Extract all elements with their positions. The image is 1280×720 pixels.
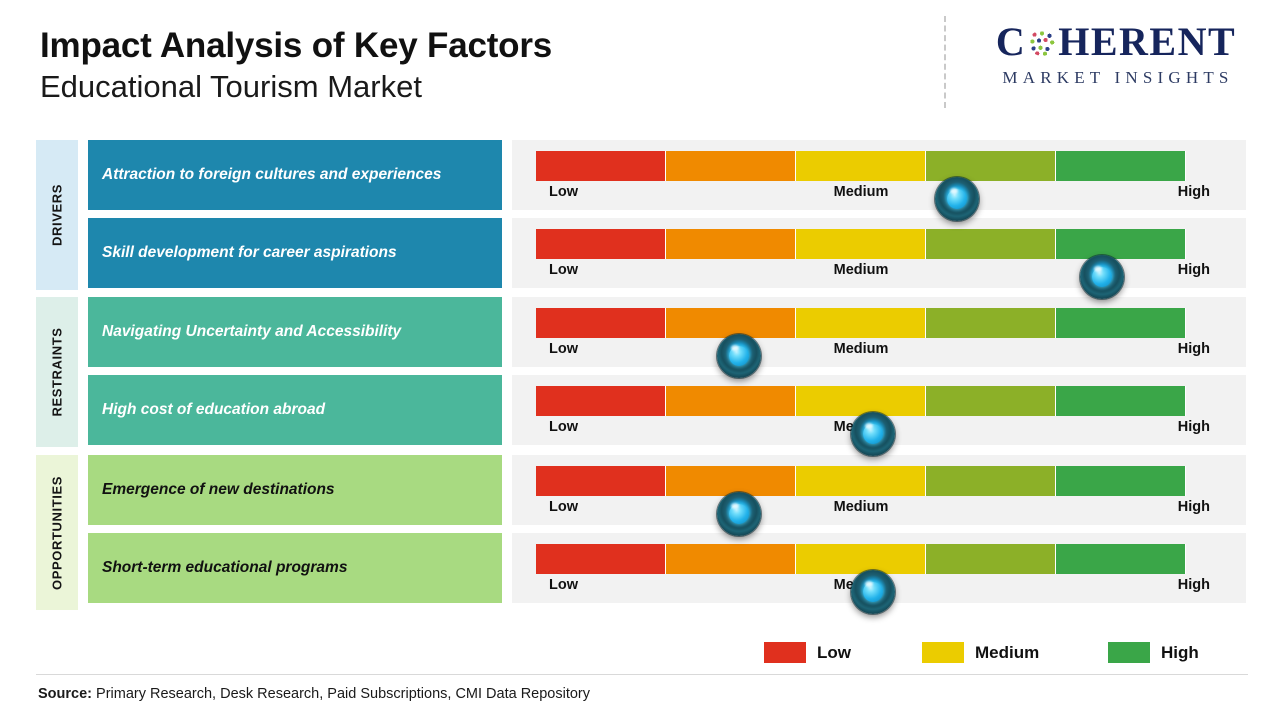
gauge-bar [536,386,1186,416]
scale-label-high: High [1178,499,1210,515]
logo-divider [944,16,946,108]
footer-divider [36,674,1248,675]
gauge-segment-high [1056,229,1186,259]
gauge-segment-medium [796,386,926,416]
gauge-bar [536,308,1186,338]
gauge-scale: Low Medium High [536,499,1186,523]
gauge-segment-high [1056,151,1186,181]
gauge-segment-high [1056,386,1186,416]
category-group-drivers: DRIVERS Attraction to foreign cultures a… [36,140,1246,290]
gauge-segment-low-medium [666,151,796,181]
impact-marker[interactable] [717,334,761,378]
gauge-segment-medium [796,544,926,574]
gauge-segment-high [1056,308,1186,338]
scale-label-high: High [1178,419,1210,435]
legend-item-low: Low [764,642,851,663]
category-label-drivers: DRIVERS [36,140,78,290]
gauge-segment-medium-high [926,386,1056,416]
factor-label: Navigating Uncertainty and Accessibility [88,297,502,367]
rows-opportunities: Emergence of new destinations Low Medium [88,455,1246,611]
factor-label: Skill development for career aspirations [88,218,502,288]
legend-swatch-low [764,642,806,663]
impact-gauge: Low Medium High [512,218,1246,288]
category-group-restraints: RESTRAINTS Navigating Uncertainty and Ac… [36,297,1246,447]
rows-restraints: Navigating Uncertainty and Accessibility… [88,297,1246,453]
gauge-segment-low-medium [666,229,796,259]
factor-label: Emergence of new destinations [88,455,502,525]
impact-marker[interactable] [851,412,895,456]
page-subtitle: Educational Tourism Market [40,68,552,107]
source-note: Source: Primary Research, Desk Research,… [38,686,590,702]
gauge-segment-medium [796,229,926,259]
chart-legend: Low Medium High [756,642,1216,674]
category-label-opportunities: OPPORTUNITIES [36,455,78,610]
gauge-scale: Low Medium High [536,184,1186,208]
scale-label-low: Low [549,499,578,515]
impact-gauge: Low Medium High [512,140,1246,210]
scale-label-high: High [1178,341,1210,357]
legend-item-high: High [1108,642,1199,663]
gauge-segment-medium-high [926,308,1056,338]
legend-label-low: Low [817,643,851,663]
factor-label: Short-term educational programs [88,533,502,603]
scale-label-high: High [1178,577,1210,593]
scale-label-high: High [1178,184,1210,200]
gauge-segment-medium-high [926,544,1056,574]
factor-row: High cost of education abroad Low Medium [88,375,1246,445]
factor-row: Skill development for career aspirations… [88,218,1246,288]
scale-label-low: Low [549,184,578,200]
gauge-segment-medium-high [926,151,1056,181]
gauge-segment-high [1056,466,1186,496]
source-label: Source: [38,686,92,702]
legend-item-medium: Medium [922,642,1039,663]
gauge-segment-medium-high [926,229,1056,259]
gauge-segment-medium [796,308,926,338]
logo-wordmark: CHERENT [996,22,1236,62]
gauge-segment-low [536,466,666,496]
scale-label-low: Low [549,262,578,278]
gauge-segment-low [536,229,666,259]
gauge-segment-medium-high [926,466,1056,496]
legend-label-medium: Medium [975,643,1039,663]
gauge-segment-medium [796,466,926,496]
gauge-segment-medium [796,151,926,181]
gauge-segment-low-medium [666,386,796,416]
scale-label-low: Low [549,419,578,435]
scale-label-high: High [1178,262,1210,278]
factor-row: Navigating Uncertainty and Accessibility… [88,297,1246,367]
gauge-scale: Low Medium High [536,341,1186,365]
source-text: Primary Research, Desk Research, Paid Su… [92,686,590,702]
gauge-bar [536,229,1186,259]
rows-drivers: Attraction to foreign cultures and exper… [88,140,1246,296]
gauge-segment-low-medium [666,466,796,496]
gauge-segment-low-medium [666,544,796,574]
scale-label-medium: Medium [834,184,889,200]
impact-marker[interactable] [1080,255,1124,299]
impact-gauge: Low Medium High [512,533,1246,603]
impact-marker[interactable] [717,492,761,536]
factor-row: Emergence of new destinations Low Medium [88,455,1246,525]
scale-label-medium: Medium [834,341,889,357]
impact-marker[interactable] [851,570,895,614]
scale-label-medium: Medium [834,499,889,515]
title-block: Impact Analysis of Key Factors Education… [40,26,552,107]
legend-swatch-medium [922,642,964,663]
scale-label-low: Low [549,577,578,593]
logo-tagline: MARKET INSIGHTS [970,68,1262,88]
company-logo: CHERENT MARKET INSIGHTS [944,16,1264,106]
gauge-segment-low [536,308,666,338]
impact-gauge: Low Medium High [512,455,1246,525]
logo-letters-rest: HERENT [1058,19,1236,64]
logo-letter-c: C [996,19,1026,64]
impact-gauge: Low Medium High [512,375,1246,445]
page-header: Impact Analysis of Key Factors Education… [0,0,1280,128]
category-group-opportunities: OPPORTUNITIES Emergence of new destinati… [36,455,1246,610]
gauge-segment-low [536,544,666,574]
gauge-segment-low [536,151,666,181]
legend-label-high: High [1161,643,1199,663]
impact-marker[interactable] [935,177,979,221]
factor-label: High cost of education abroad [88,375,502,445]
gauge-bar [536,466,1186,496]
factor-row: Attraction to foreign cultures and exper… [88,140,1246,210]
impact-gauge: Low Medium High [512,297,1246,367]
factor-label: Attraction to foreign cultures and exper… [88,140,502,210]
impact-matrix: DRIVERS Attraction to foreign cultures a… [36,140,1246,610]
gauge-bar [536,544,1186,574]
factor-row: Short-term educational programs Low Medi… [88,533,1246,603]
scale-label-medium: Medium [834,262,889,278]
gauge-bar [536,151,1186,181]
gauge-segment-low-medium [666,308,796,338]
globe-icon [1027,28,1057,58]
legend-swatch-high [1108,642,1150,663]
page-title: Impact Analysis of Key Factors [40,26,552,65]
scale-label-low: Low [549,341,578,357]
gauge-segment-high [1056,544,1186,574]
category-label-restraints: RESTRAINTS [36,297,78,447]
gauge-segment-low [536,386,666,416]
logo-text: CHERENT MARKET INSIGHTS [970,22,1262,88]
